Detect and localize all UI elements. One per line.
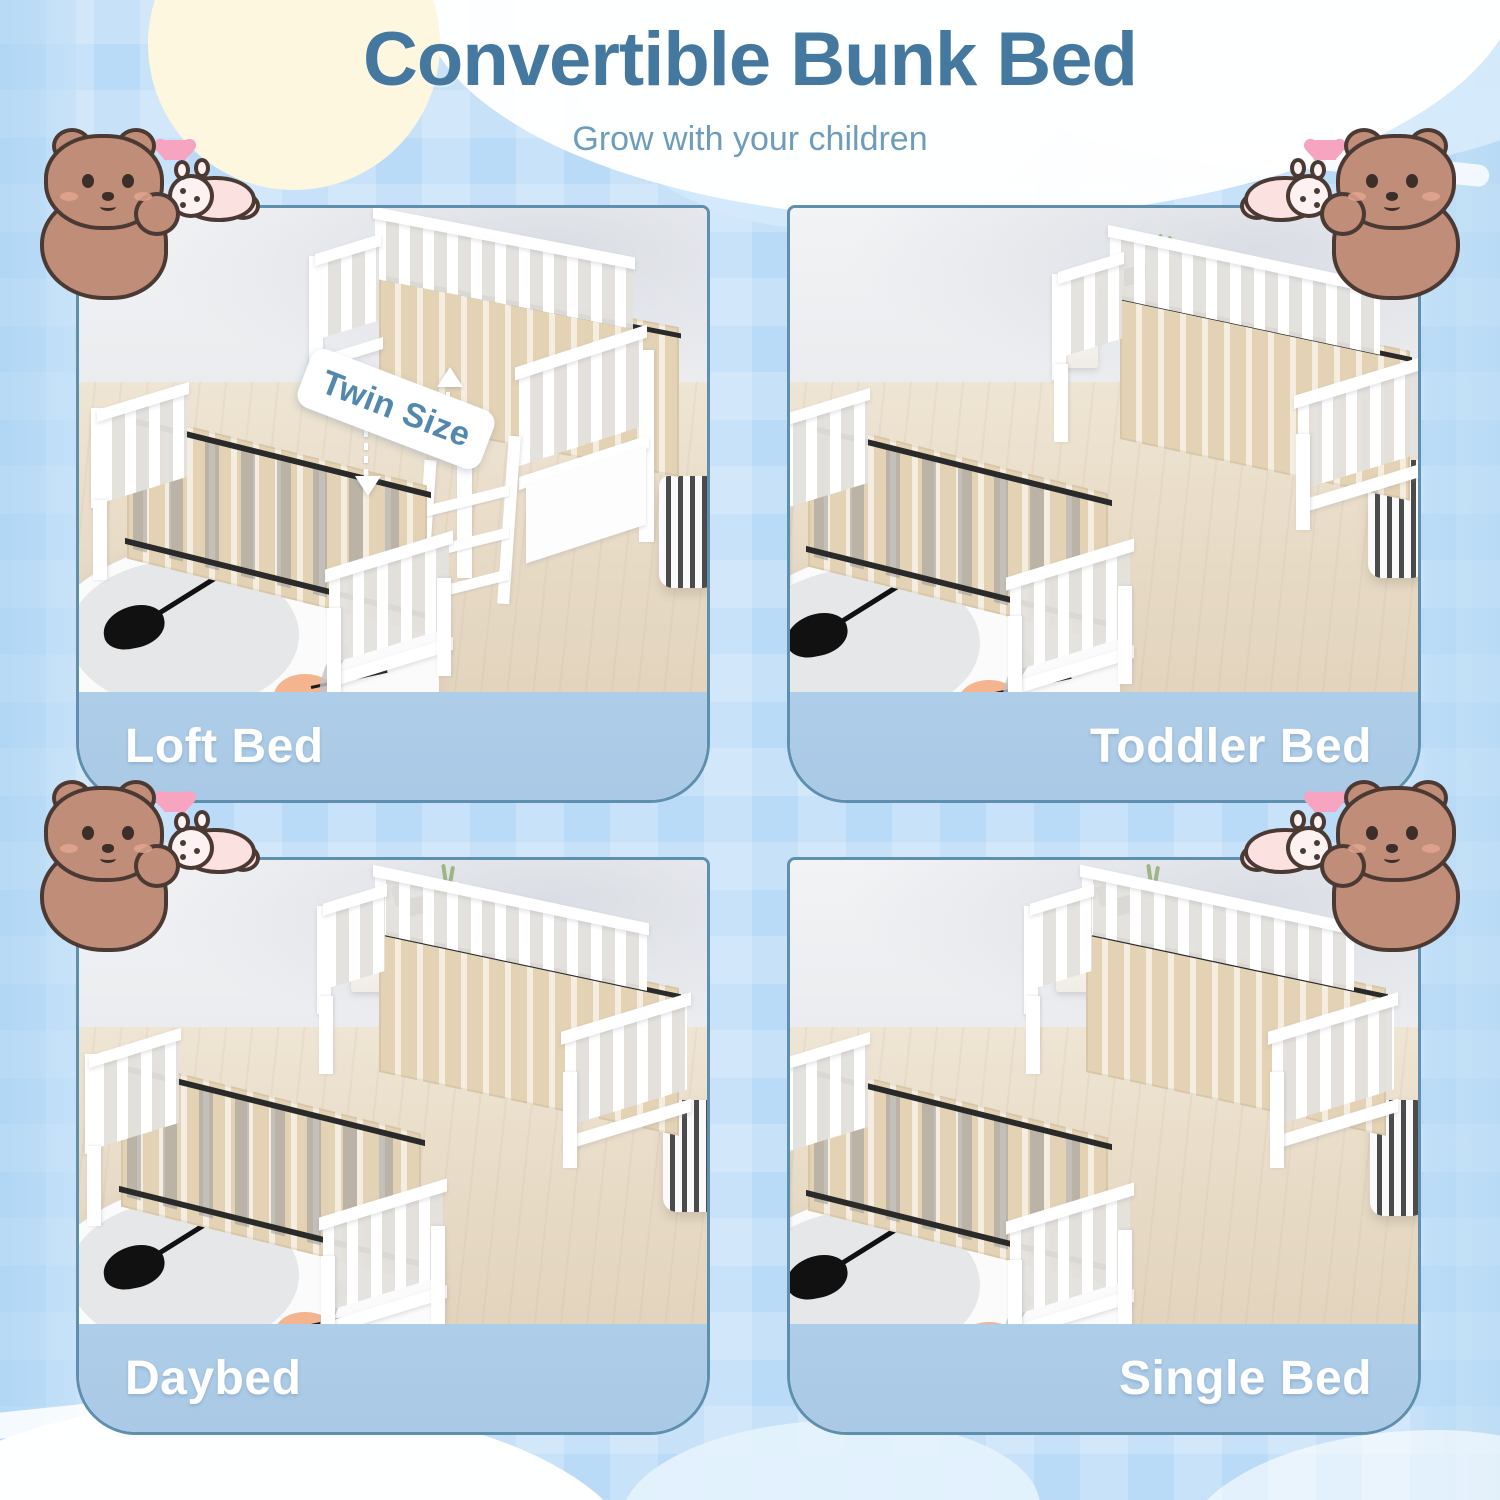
bunny-eye (1314, 854, 1320, 860)
bear-blush (1422, 192, 1440, 201)
bear-eye (122, 174, 134, 188)
sticker-group-bottom-right (1210, 782, 1470, 912)
bed-leg (327, 608, 341, 692)
sticker-group-bottom-left (30, 782, 290, 912)
scene-loft-bed (79, 208, 707, 692)
bear-mouth (100, 202, 116, 211)
bed-leg (1296, 434, 1310, 530)
sticker-group-top-right (1210, 130, 1470, 260)
caption-loft-bed: Loft Bed (125, 719, 324, 774)
ottoman (659, 476, 707, 588)
bear-nose (102, 192, 114, 201)
bear-blush (134, 192, 152, 201)
bunny-nose (194, 848, 200, 854)
bunny-ear (1290, 810, 1306, 830)
bear-mouth (1384, 202, 1400, 211)
bunny-nose (1300, 196, 1306, 202)
caption-toddler-bed: Toddler Bed (1090, 719, 1372, 774)
panel-daybed[interactable]: Daybed (76, 857, 710, 1435)
bunny-nose (1300, 848, 1306, 854)
bunny-eye (1314, 202, 1320, 208)
bunny-eye (1314, 188, 1320, 194)
bunny-nose (194, 196, 200, 202)
bunny-eye (180, 840, 186, 846)
scene-single-bed (790, 860, 1418, 1324)
bear-mouth (100, 854, 116, 863)
bed-leg (93, 500, 107, 580)
heart-icon (164, 792, 186, 812)
scene-toddler-bed (790, 208, 1418, 692)
bear-nose (1386, 844, 1398, 853)
bed-leg (1270, 1072, 1284, 1168)
bear-blush (134, 844, 152, 853)
bear-eye (1366, 826, 1378, 840)
bear-blush (1422, 844, 1440, 853)
bunny-ear (1310, 812, 1326, 832)
caption-daybed: Daybed (125, 1351, 301, 1406)
bunny-ear (194, 158, 210, 178)
bunny-eye (180, 854, 186, 860)
bed-leg (1118, 586, 1132, 684)
bear-eye (1406, 826, 1418, 840)
bear-eye (1366, 174, 1378, 188)
bunny-eye (180, 202, 186, 208)
heart-icon (164, 140, 186, 160)
bed-leg (437, 578, 451, 676)
bunny-ear (1290, 158, 1306, 178)
arrow-up-icon (437, 367, 463, 387)
bunny-eye (180, 188, 186, 194)
bed-leg (321, 1256, 335, 1324)
bunny-ear (174, 160, 190, 180)
bed-leg (1026, 996, 1040, 1074)
callout-line-down (364, 430, 368, 480)
scene-daybed (79, 860, 707, 1324)
bear-eye (1406, 174, 1418, 188)
heart-icon (1314, 140, 1336, 160)
bed-leg (1008, 616, 1022, 692)
bear-blush (60, 192, 78, 201)
bear-blush (1348, 192, 1366, 201)
caption-bar-single-bed: Single Bed (790, 1324, 1418, 1432)
bear-eye (82, 174, 94, 188)
page-title: Convertible Bunk Bed (0, 0, 1500, 98)
bed-leg (319, 996, 333, 1074)
infographic-stage: Convertible Bunk Bed Grow with your chil… (0, 0, 1500, 1500)
bunny-eye (1314, 840, 1320, 846)
caption-single-bed: Single Bed (1119, 1351, 1372, 1406)
bear-nose (1386, 192, 1398, 201)
bed-leg (1118, 1230, 1132, 1324)
bear-eye (122, 826, 134, 840)
caption-bar-daybed: Daybed (79, 1324, 707, 1432)
bunny-ear (194, 810, 210, 830)
bear-mouth (1384, 854, 1400, 863)
bear-eye (82, 826, 94, 840)
bed-leg (563, 1072, 577, 1168)
bear-nose (102, 844, 114, 853)
bed-leg (431, 1226, 445, 1324)
bed-leg (87, 1146, 101, 1226)
bed-leg (1008, 1260, 1022, 1324)
sticker-group-top-left (30, 130, 290, 260)
bunny-ear (174, 812, 190, 832)
bed-leg (1054, 364, 1068, 442)
arrow-down-icon (355, 476, 381, 496)
panel-single-bed[interactable]: Single Bed (787, 857, 1421, 1435)
panel-toddler-bed[interactable]: Toddler Bed (787, 205, 1421, 803)
panel-loft-bed[interactable]: Loft Bed (76, 205, 710, 803)
bunny-ear (1310, 160, 1326, 180)
heart-icon (1314, 792, 1336, 812)
bear-blush (1348, 844, 1366, 853)
bear-blush (60, 844, 78, 853)
